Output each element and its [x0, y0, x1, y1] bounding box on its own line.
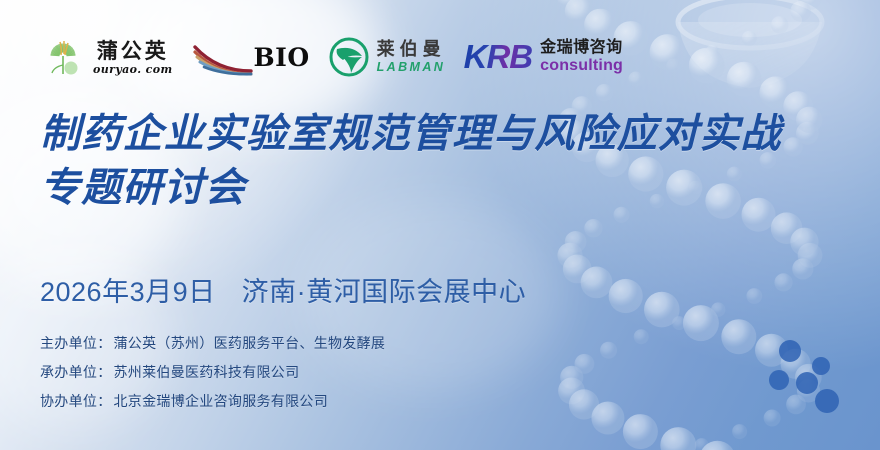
bio-swoosh-icon — [191, 37, 253, 77]
organizer-label: 主办单位： — [40, 335, 112, 351]
event-date: 2026年3月9日 — [40, 270, 216, 309]
organizer-value: 北京金瑞博企业咨询服务有限公司 — [114, 393, 329, 409]
event-venue: 济南·黄河国际会展中心 — [242, 270, 527, 309]
event-datetime-venue: 2026年3月9日 济南·黄河国际会展中心 — [40, 270, 526, 309]
conference-poster: 蒲公英 ouryao. com BIO — [0, 0, 880, 450]
headline-line-1: 制药企业实验室规范管理与风险应对实战 — [40, 108, 782, 162]
krb-wordmark: KRB — [464, 38, 533, 76]
bio-logo[interactable]: BIO — [191, 28, 310, 86]
labman-cn-text: 莱伯曼 — [377, 40, 446, 58]
labman-en-text: LABMAN — [377, 61, 446, 74]
krb-cn-text: 金瑞博咨询 — [540, 40, 623, 56]
organizer-label: 协办单位： — [40, 393, 112, 409]
krb-logo[interactable]: KRB 金瑞博咨询 consulting — [464, 28, 623, 86]
organizer-row-coorganizer: 协办单位：北京金瑞博企业咨询服务有限公司 — [40, 394, 385, 408]
organizer-row-undertaker: 承办单位：苏州莱伯曼医药科技有限公司 — [40, 365, 385, 379]
organizer-list: 主办单位：蒲公英（苏州）医药服务平台、生物发酵展 承办单位：苏州莱伯曼医药科技有… — [40, 336, 385, 408]
ouryao-logo[interactable]: 蒲公英 ouryao. com — [40, 28, 173, 86]
organizer-label: 承办单位： — [40, 364, 112, 380]
labman-logo[interactable]: 莱伯曼 LABMAN — [328, 28, 446, 86]
headline-line-2: 专题研讨会 — [40, 162, 782, 216]
organizer-value: 苏州莱伯曼医药科技有限公司 — [114, 364, 300, 380]
organizer-value: 蒲公英（苏州）医药服务平台、生物发酵展 — [114, 335, 386, 351]
molecule-cluster-icon — [757, 333, 862, 428]
ouryao-en-text: ouryao. com — [93, 64, 173, 75]
labman-leaf-icon — [328, 36, 370, 78]
ouryao-cn-text: 蒲公英 — [97, 40, 169, 61]
poster-headline: 制药企业实验室规范管理与风险应对实战 专题研讨会 — [40, 108, 782, 215]
partner-logo-bar: 蒲公英 ouryao. com BIO — [40, 28, 623, 86]
bio-wordmark: BIO — [254, 43, 310, 72]
krb-en-text: consulting — [540, 58, 623, 74]
organizer-row-host: 主办单位：蒲公英（苏州）医药服务平台、生物发酵展 — [40, 336, 385, 350]
dandelion-icon — [40, 34, 86, 80]
